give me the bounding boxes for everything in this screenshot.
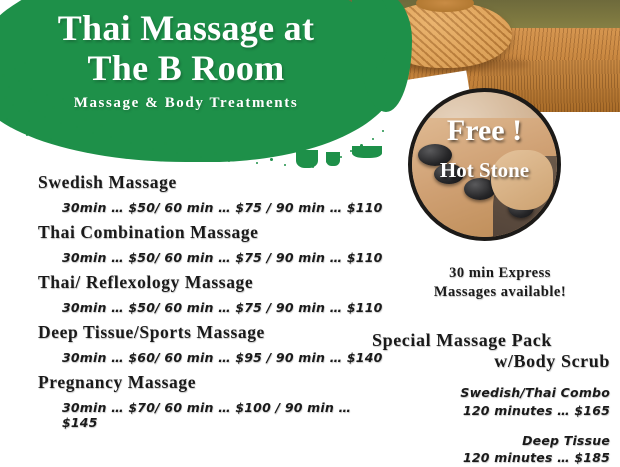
- service-item: Thai/ Reflexology Massage 30min … $50/ 6…: [0, 272, 388, 315]
- service-price: 30min … $50/ 60 min … $75 / 90 min … $11…: [62, 300, 388, 315]
- service-name: Thai Combination Massage: [38, 222, 388, 243]
- express-note: 30 min Express Massages available!: [386, 264, 614, 302]
- brush-speckle: [76, 126, 78, 128]
- header-text-block: Thai Massage at The B Room Massage & Bod…: [0, 8, 372, 112]
- package-item-detail: 120 minutes … $165: [372, 402, 610, 420]
- brush-speckle: [382, 130, 384, 132]
- service-list: Swedish Massage 30min … $50/ 60 min … $7…: [0, 172, 388, 437]
- special-package-block: Special Massage Pack w/Body Scrub Swedis…: [372, 330, 614, 467]
- service-price: 30min … $50/ 60 min … $75 / 90 min … $11…: [62, 200, 388, 215]
- page-title-line-2: The B Room: [0, 48, 372, 88]
- brush-speckle: [130, 142, 132, 144]
- express-note-line-1: 30 min Express: [386, 264, 614, 283]
- service-name: Swedish Massage: [38, 172, 388, 193]
- badge-headline: Free !: [412, 116, 557, 146]
- express-note-line-2: Massages available!: [386, 283, 614, 302]
- package-item-detail: 120 minutes … $185: [372, 449, 610, 467]
- service-price: 30min … $60/ 60 min … $95 / 90 min … $14…: [62, 350, 388, 365]
- brush-speckle: [270, 158, 273, 161]
- brush-speckle: [214, 152, 217, 155]
- package-item: Deep Tissue 120 minutes … $185: [372, 432, 614, 467]
- brush-speckle: [298, 160, 301, 163]
- brush-speckle: [360, 144, 363, 147]
- service-price: 30min … $70/ 60 min … $100 / 90 min … $1…: [62, 400, 388, 430]
- brush-speckle: [372, 138, 374, 140]
- brush-speckle: [140, 136, 144, 140]
- brush-speckle: [16, 128, 18, 130]
- brush-speckle: [326, 160, 329, 163]
- brush-speckle: [256, 162, 258, 164]
- free-hot-stone-badge: Free ! Hot Stone: [408, 88, 561, 241]
- brush-speckle: [6, 118, 8, 120]
- brush-speckle: [350, 150, 352, 152]
- brush-drip-2: [326, 152, 340, 166]
- brush-speckle: [200, 156, 202, 158]
- service-name: Pregnancy Massage: [38, 372, 388, 393]
- brush-speckle: [228, 160, 230, 162]
- service-item: Thai Combination Massage 30min … $50/ 60…: [0, 222, 388, 265]
- brush-speckle: [92, 132, 94, 134]
- brush-speckle: [284, 164, 286, 166]
- page-subtitle: Massage & Body Treatments: [0, 95, 372, 112]
- brush-speckle: [312, 166, 314, 168]
- brush-speckle: [44, 116, 46, 118]
- service-name: Thai/ Reflexology Massage: [38, 272, 388, 293]
- package-heading-line-2: w/Body Scrub: [372, 351, 614, 372]
- brush-speckle: [176, 152, 178, 154]
- package-item-name: Swedish/Thai Combo: [372, 384, 610, 402]
- brush-speckle: [100, 124, 103, 127]
- brush-speckle: [164, 142, 167, 145]
- page-title-line-1: Thai Massage at: [0, 8, 372, 48]
- package-item: Swedish/Thai Combo 120 minutes … $165: [372, 384, 614, 420]
- package-item-name: Deep Tissue: [372, 432, 610, 450]
- brush-speckle: [26, 134, 28, 136]
- brush-drip-3: [352, 146, 382, 158]
- badge-subline: Hot Stone: [412, 160, 557, 181]
- service-item: Pregnancy Massage 30min … $70/ 60 min … …: [0, 372, 388, 430]
- brush-speckle: [152, 148, 154, 150]
- brush-speckle: [50, 138, 52, 140]
- service-item: Deep Tissue/Sports Massage 30min … $60/ …: [0, 322, 388, 365]
- package-heading-line-1: Special Massage Pack: [372, 330, 614, 351]
- brush-drip-1: [296, 150, 318, 168]
- brush-speckle: [60, 122, 62, 124]
- brush-speckle: [120, 130, 123, 133]
- brush-speckle: [110, 136, 112, 138]
- brush-speckle: [188, 148, 191, 151]
- service-name: Deep Tissue/Sports Massage: [38, 322, 388, 343]
- brush-speckle: [68, 112, 72, 116]
- brush-speckle: [242, 156, 245, 159]
- badge-text-block: Free ! Hot Stone: [412, 116, 557, 181]
- service-item: Swedish Massage 30min … $50/ 60 min … $7…: [0, 172, 388, 215]
- brush-speckle: [84, 118, 87, 121]
- brush-speckle: [340, 156, 342, 158]
- service-price: 30min … $50/ 60 min … $75 / 90 min … $11…: [62, 250, 388, 265]
- brush-speckle: [38, 130, 40, 132]
